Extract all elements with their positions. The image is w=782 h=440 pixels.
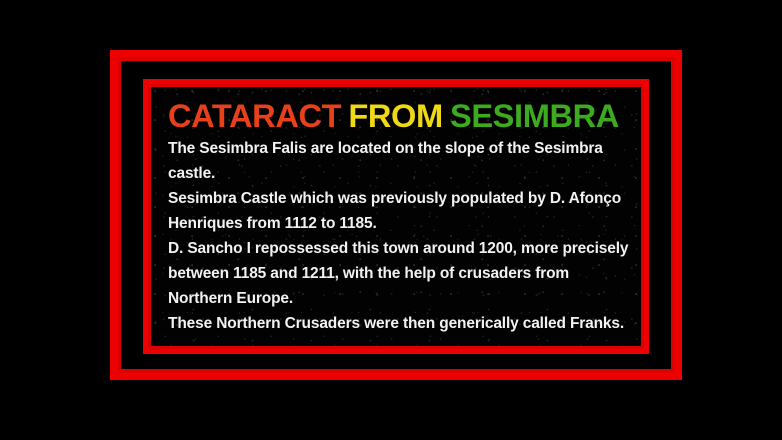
slide-title: CATARACTFROMSESIMBRA <box>168 99 641 133</box>
title-word-cataract: CATARACT <box>168 99 341 133</box>
body-paragraph: The Sesimbra Falis are located on the sl… <box>168 136 633 186</box>
body-paragraph: Sesimbra Castle which was previously pop… <box>168 186 633 236</box>
body-paragraph: D. Sancho I repossessed this town around… <box>168 236 633 311</box>
title-word-sesimbra: SESIMBRA <box>450 99 619 133</box>
body-paragraph: These Northern Crusaders were then gener… <box>168 311 633 336</box>
slide-body-text: The Sesimbra Falis are located on the sl… <box>168 136 633 336</box>
content-panel: CATARACTFROMSESIMBRA The Sesimbra Falis … <box>151 87 641 346</box>
outer-red-frame: CATARACTFROMSESIMBRA The Sesimbra Falis … <box>110 50 682 380</box>
slide-canvas: CATARACTFROMSESIMBRA The Sesimbra Falis … <box>0 0 782 440</box>
inner-red-frame: CATARACTFROMSESIMBRA The Sesimbra Falis … <box>143 79 649 354</box>
title-word-from: FROM <box>348 99 442 133</box>
